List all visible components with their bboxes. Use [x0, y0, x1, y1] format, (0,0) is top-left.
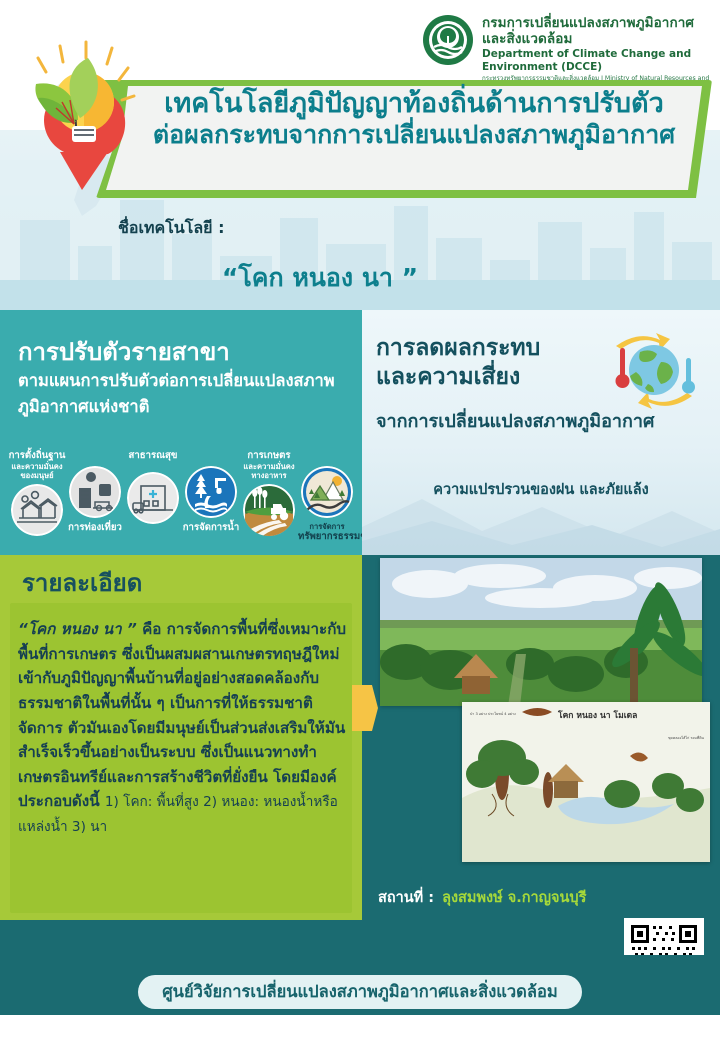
footer-pill: ศูนย์วิจัยการเปลี่ยนแปลงสภาพภูมิอากาศและ…: [138, 975, 582, 1009]
mitigation-heading-line-1: การลดผลกระทบ: [376, 334, 540, 363]
sector-natural-resources-label: การจัดการ ทรัพยากรธรรมชาติ: [298, 522, 356, 543]
diagram-note-right: ขุดคลองไส้ไก่ รอบที่ดิน: [660, 736, 704, 740]
hot-thermometer: [616, 348, 630, 388]
sector-agriculture-label: การเกษตร และความมั่นคงทางอาหาร: [240, 450, 298, 480]
details-panel: รายละเอียด “โคก หนอง นา ” คือ การจัดการพ…: [0, 555, 362, 920]
sector-public-health[interactable]: สาธารณสุข: [124, 450, 182, 524]
adaptation-heading: การปรับตัวรายสาขา: [18, 332, 230, 371]
mitigation-heading-line-2: และความเสี่ยง: [376, 363, 540, 392]
natural-resource-mountain-icon: [301, 466, 353, 518]
water-management-tap-icon: [185, 466, 237, 518]
org-name-th: กรมการเปลี่ยนแปลงสภาพภูมิอากาศและสิ่งแวด…: [482, 16, 714, 47]
diagram-note-left: ป่า 3 อย่าง ประโยชน์ 4 อย่าง: [470, 712, 534, 716]
poster-root: กรมการเปลี่ยนแปลงสภาพภูมิอากาศและสิ่งแวด…: [0, 0, 720, 1040]
poster-title: เทคโนโลยีภูมิปัญญาท้องถิ่นด้านการปรับตัว…: [134, 88, 694, 149]
khok-nong-na-model-diagram: โคก หนอง นา โมเดล ป่า 3 อย่าง ประโยชน์ 4…: [462, 702, 710, 862]
sector-water-management[interactable]: การจัดการน้ำ: [182, 466, 240, 534]
sector-tourism[interactable]: การท่องเที่ยว: [66, 466, 124, 534]
place-row: สถานที่ :ลุงสมพงษ์ จ.กาญจนบุรี: [378, 886, 586, 909]
dcce-logo: กรมการเปลี่ยนแปลงสภาพภูมิอากาศและสิ่งแวด…: [422, 14, 714, 74]
tourism-city-bus-icon: [69, 466, 121, 518]
settlement-houses-icon: [11, 484, 63, 536]
farm-landscape-photo: [380, 558, 702, 706]
public-health-hospital-icon: [127, 472, 179, 524]
technology-name-label: ชื่อเทคโนโลยี :: [118, 216, 224, 241]
title-line-1: เทคโนโลยีภูมิปัญญาท้องถิ่นด้านการปรับตัว: [134, 88, 694, 120]
sector-settlement[interactable]: การตั้งถิ่นฐาน และความมั่นคงของมนุษย์: [8, 450, 66, 536]
technology-name-value: “โคก หนอง นา ”: [0, 258, 640, 298]
sector-icon-row: การตั้งถิ่นฐาน และความมั่นคงของมนุษย์: [4, 450, 360, 550]
footer-text: ศูนย์วิจัยการเปลี่ยนแปลงสภาพภูมิอากาศและ…: [162, 979, 558, 1005]
title-ribbon: เทคโนโลยีภูมิปัญญาท้องถิ่นด้านการปรับตัว…: [96, 80, 712, 198]
sector-water-label: การจัดการน้ำ: [182, 522, 240, 534]
place-value: ลุงสมพงษ์ จ.กาญจนบุรี: [442, 890, 586, 906]
agriculture-field-tractor-icon: [243, 484, 295, 536]
sector-agriculture[interactable]: การเกษตร และความมั่นคงทางอาหาร: [240, 450, 298, 536]
mitigation-note: ความแปรปรวนของฝน และภัยแล้ง: [362, 478, 720, 501]
details-heading: รายละเอียด: [22, 563, 142, 602]
details-quote: “โคก หนอง นา ”: [18, 620, 137, 638]
bottom-white-strip: [0, 1015, 720, 1040]
cold-thermometer: [682, 358, 695, 394]
title-line-2: ต่อผลกระทบจากการเปลี่ยนแปลงสภาพภูมิอากาศ: [134, 120, 694, 150]
sector-natural-resources[interactable]: การจัดการ ทรัพยากรธรรมชาติ: [298, 466, 356, 543]
mitigation-heading: การลดผลกระทบ และความเสี่ยง: [376, 334, 540, 391]
place-label: สถานที่ :: [378, 890, 434, 906]
sector-settlement-label: การตั้งถิ่นฐาน และความมั่นคงของมนุษย์: [8, 450, 66, 480]
lightbulb-leaf-map-pin-icon: [16, 40, 148, 220]
poster-header: กรมการเปลี่ยนแปลงสภาพภูมิอากาศและสิ่งแวด…: [0, 0, 720, 310]
globe-thermometer-icon: [598, 326, 710, 416]
dcce-tree-water-emblem-icon: [422, 14, 474, 66]
adaptation-panel: การปรับตัวรายสาขา ตามแผนการปรับตัวต่อการ…: [0, 310, 362, 555]
band-section: การปรับตัวรายสาขา ตามแผนการปรับตัวต่อการ…: [0, 310, 720, 555]
org-name-en: Department of Climate Change and Environ…: [482, 48, 714, 74]
diagram-title: โคก หนอง นา โมเดล: [558, 708, 637, 722]
details-text: คือ การจัดการพื้นที่ซึ่งเหมาะกับพื้นที่ก…: [18, 620, 346, 810]
sector-public-health-label: สาธารณสุข: [124, 450, 182, 462]
mitigation-panel: การลดผลกระทบ และความเสี่ยง จากการเปลี่ยน…: [362, 310, 720, 555]
yellow-arrow-pointer-icon: [352, 685, 378, 731]
details-paragraph: “โคก หนอง นา ” คือ การจัดการพื้นที่ซึ่งเ…: [18, 617, 348, 839]
sector-tourism-label: การท่องเที่ยว: [66, 522, 124, 534]
adaptation-subheading: ตามแผนการปรับตัวต่อการเปลี่ยนแปลงสภาพภูม…: [18, 368, 348, 419]
